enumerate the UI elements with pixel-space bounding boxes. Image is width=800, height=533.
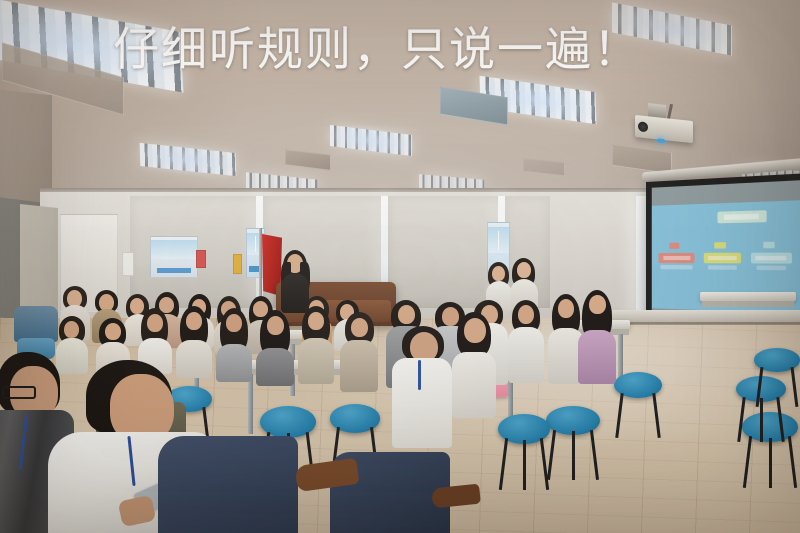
wall-recess [20, 204, 58, 318]
seated-person [256, 310, 294, 384]
ceiling-light-fixture [140, 143, 237, 176]
slide-box-label [763, 241, 775, 248]
wall-notice [233, 254, 242, 274]
projector-led-icon [657, 138, 665, 143]
stool [754, 348, 800, 404]
wall-notice [122, 252, 134, 276]
seated-person [452, 312, 496, 416]
slide-box-label [669, 242, 679, 248]
slide-box-cyan [751, 252, 791, 263]
slide-box-caption [708, 266, 736, 271]
slide-box-caption [660, 265, 693, 269]
ceiling-light-fixture [330, 125, 412, 156]
seated-person [578, 290, 616, 382]
seated-person-white-shirt [392, 326, 452, 446]
classroom-photo: 5 [0, 0, 800, 533]
wall-poster [150, 236, 198, 278]
slide-box-red [659, 253, 694, 264]
stool [546, 406, 600, 476]
slide-box-label [714, 242, 725, 249]
wall-notice [196, 250, 206, 268]
seated-person [508, 300, 544, 382]
flag-pole [259, 228, 262, 304]
slide-box-yellow [704, 253, 742, 264]
glasses-icon [2, 386, 36, 399]
seated-person [340, 312, 378, 390]
projector-lens-icon [638, 121, 648, 132]
caption-text: 仔细听规则，只说一遍！ [113, 26, 641, 72]
stool [614, 372, 662, 434]
slide-title-box [718, 210, 767, 223]
slide-box-caption [756, 266, 786, 271]
seated-person [298, 306, 334, 382]
seated-legs-jeans [158, 436, 298, 533]
stool [498, 414, 550, 486]
